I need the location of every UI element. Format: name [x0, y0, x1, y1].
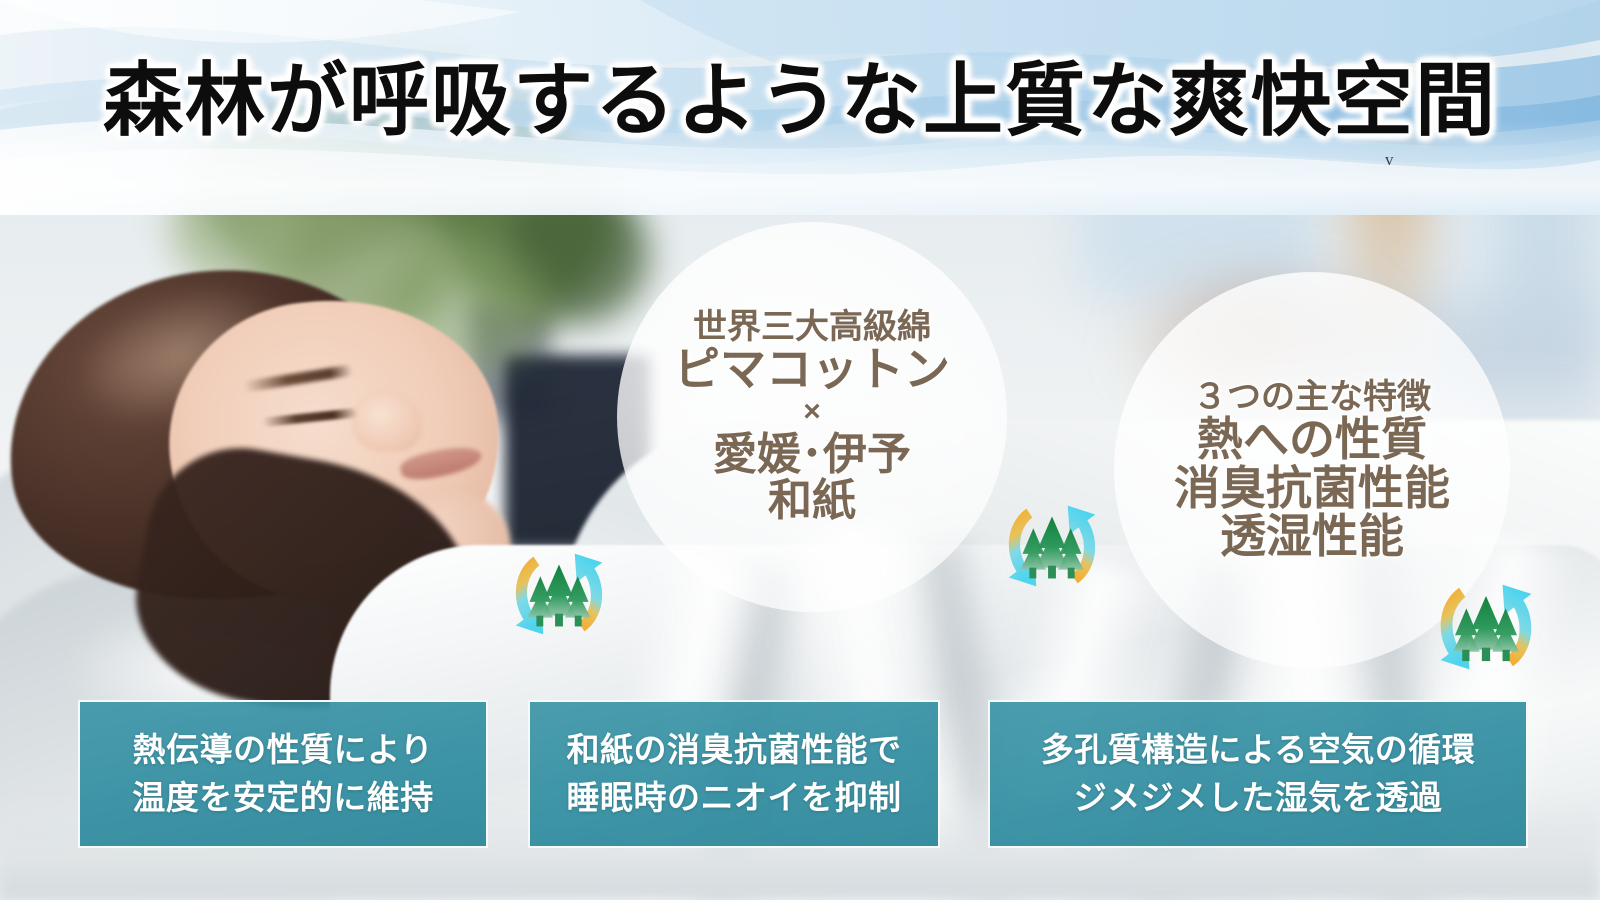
- forest-circulation-icon: [1424, 565, 1548, 689]
- forest-circulation-icon: [500, 535, 618, 653]
- banner-1-line-2: 温度を安定的に維持: [132, 774, 434, 822]
- bubble-cotton-line-2: ピマコットン: [674, 345, 950, 394]
- bubble-features-line-2: 熱への性質: [1197, 415, 1427, 464]
- banner-2-line-1: 和紙の消臭抗菌性能で: [567, 726, 902, 774]
- banner-3-line-2: ジメジメした湿気を透過: [1074, 774, 1443, 822]
- bubble-cotton-line-4: 愛媛･伊予: [713, 432, 911, 479]
- bubble-cotton-line-3: ×: [803, 396, 821, 428]
- bubble-features-line-1: ３つの主な特徴: [1193, 379, 1431, 415]
- page-title: 森林が呼吸するような上質な爽快空間: [0, 36, 1600, 152]
- bubble-cotton-line-5: 和紙: [768, 478, 856, 525]
- bubble-features-line-4: 透湿性能: [1220, 512, 1404, 561]
- bubble-cotton-line-1: 世界三大高級綿: [693, 309, 931, 345]
- feature-banner-heat-conduction: 熱伝導の性質により 温度を安定的に維持: [78, 700, 488, 848]
- info-circle-cotton: 世界三大高級綿 ピマコットン × 愛媛･伊予 和紙: [617, 222, 1007, 612]
- banner-1-line-1: 熱伝導の性質により: [133, 726, 434, 774]
- stray-v-mark: v: [1385, 150, 1394, 170]
- forest-circulation-icon: [993, 487, 1111, 605]
- feature-banner-moisture-permeability: 多孔質構造による空気の循環 ジメジメした湿気を透過: [988, 700, 1528, 848]
- promo-banner-stage: 森林が呼吸するような上質な爽快空間 v 世界三大高級綿 ピマコットン × 愛媛･…: [0, 0, 1600, 900]
- bubble-features-line-3: 消臭抗菌性能: [1174, 464, 1450, 513]
- feature-banner-deodorant-antibacterial: 和紙の消臭抗菌性能で 睡眠時のニオイを抑制: [528, 700, 940, 848]
- banner-3-line-1: 多孔質構造による空気の循環: [1041, 726, 1476, 774]
- banner-2-line-2: 睡眠時のニオイを抑制: [567, 774, 902, 822]
